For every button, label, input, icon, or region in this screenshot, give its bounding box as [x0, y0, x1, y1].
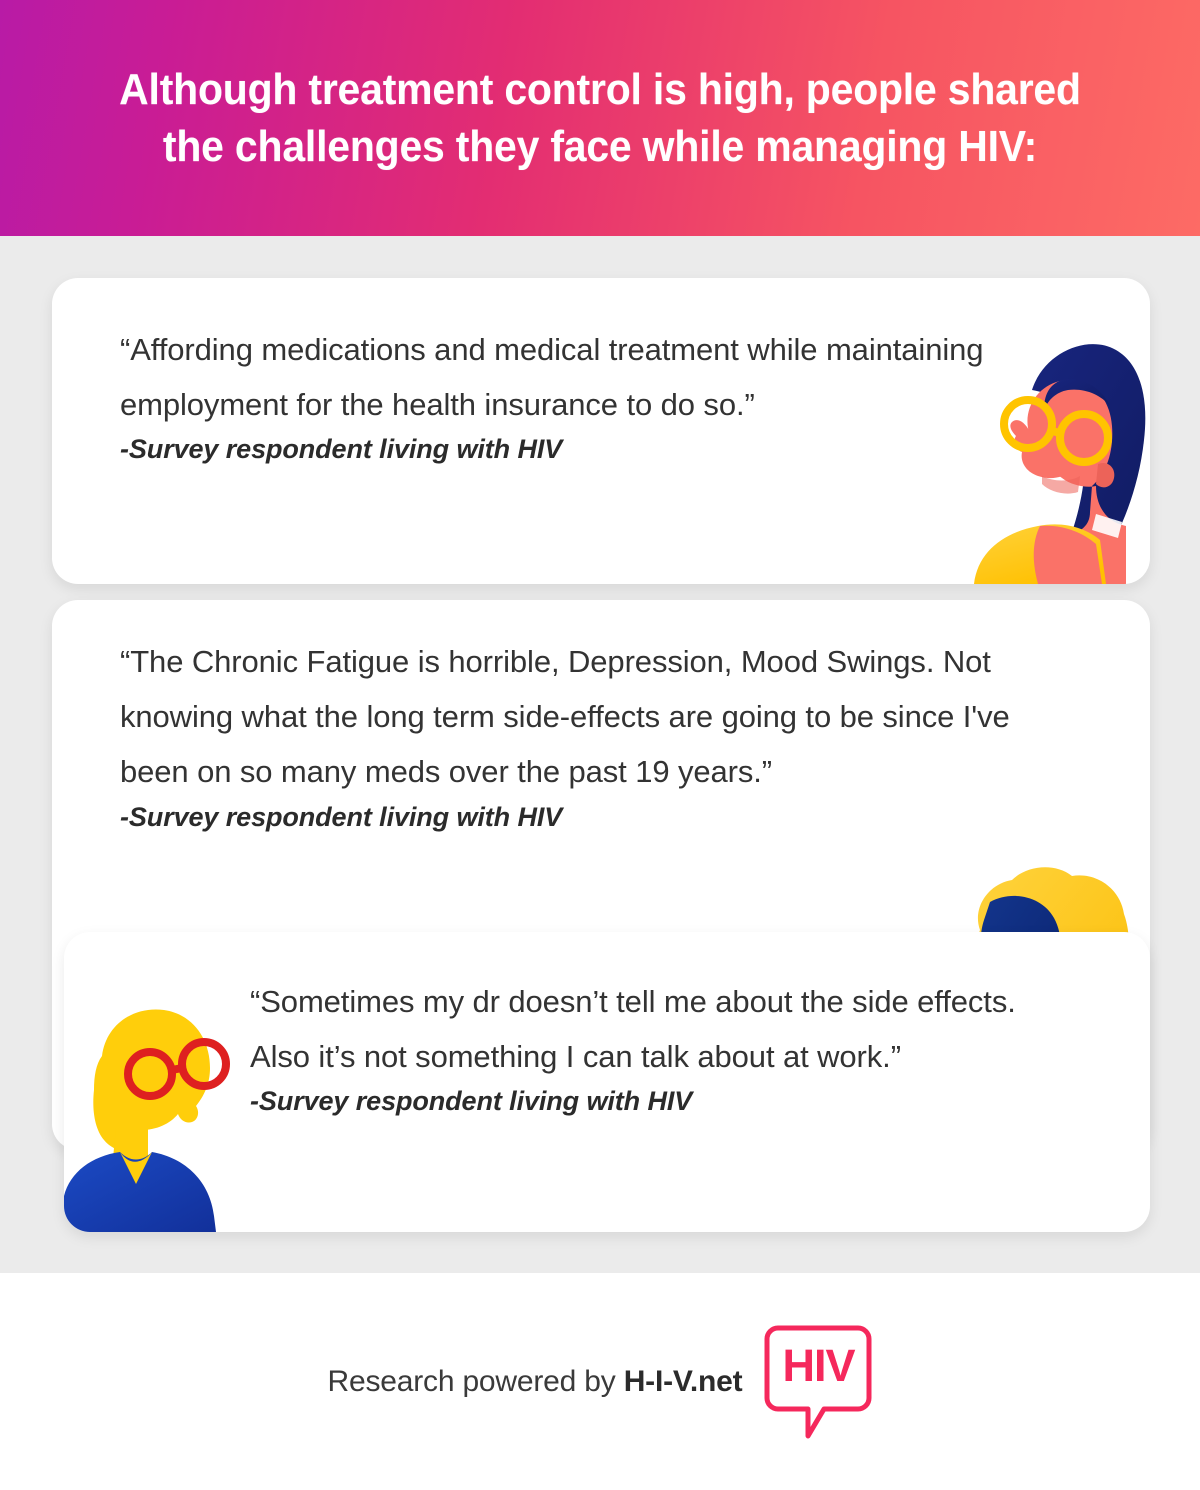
footer-credit: Research powered by H-I-V.net [328, 1365, 743, 1399]
quote-text: “The Chronic Fatigue is horrible, Depres… [120, 634, 1032, 800]
quote-card-text: “Sometimes my dr doesn’t tell me about t… [250, 974, 1070, 1117]
quote-attribution: -Survey respondent living with HIV [250, 1086, 1070, 1117]
quote-text: “Affording medications and medical treat… [120, 322, 1000, 432]
quote-card: “Affording medications and medical treat… [52, 278, 1150, 584]
quote-cards-section: “Affording medications and medical treat… [0, 236, 1200, 1273]
quote-card: “Sometimes my dr doesn’t tell me about t… [64, 932, 1150, 1232]
footer-brand-name: H-I-V.net [624, 1365, 743, 1398]
footer-credit-prefix: Research powered by [328, 1365, 624, 1398]
quote-attribution: -Survey respondent living with HIV [120, 802, 1032, 833]
page-title: Although treatment control is high, peop… [116, 61, 1083, 175]
woman-with-navy-hair-and-yellow-glasses-illustration [920, 336, 1150, 584]
quote-text: “Sometimes my dr doesn’t tell me about t… [250, 974, 1070, 1084]
header-banner: Although treatment control is high, peop… [0, 0, 1200, 236]
bald-person-with-red-glasses-illustration [64, 1000, 240, 1232]
quote-attribution: -Survey respondent living with HIV [120, 434, 1000, 465]
logo-label: HIV [782, 1343, 854, 1388]
infographic-root: Although treatment control is high, peop… [0, 0, 1200, 1490]
footer: Research powered by H-I-V.net HIV [0, 1273, 1200, 1490]
quote-card-text: “Affording medications and medical treat… [120, 322, 1000, 465]
hiv-net-logo[interactable]: HIV [764, 1324, 872, 1440]
quote-card-text: “The Chronic Fatigue is horrible, Depres… [120, 634, 1032, 833]
